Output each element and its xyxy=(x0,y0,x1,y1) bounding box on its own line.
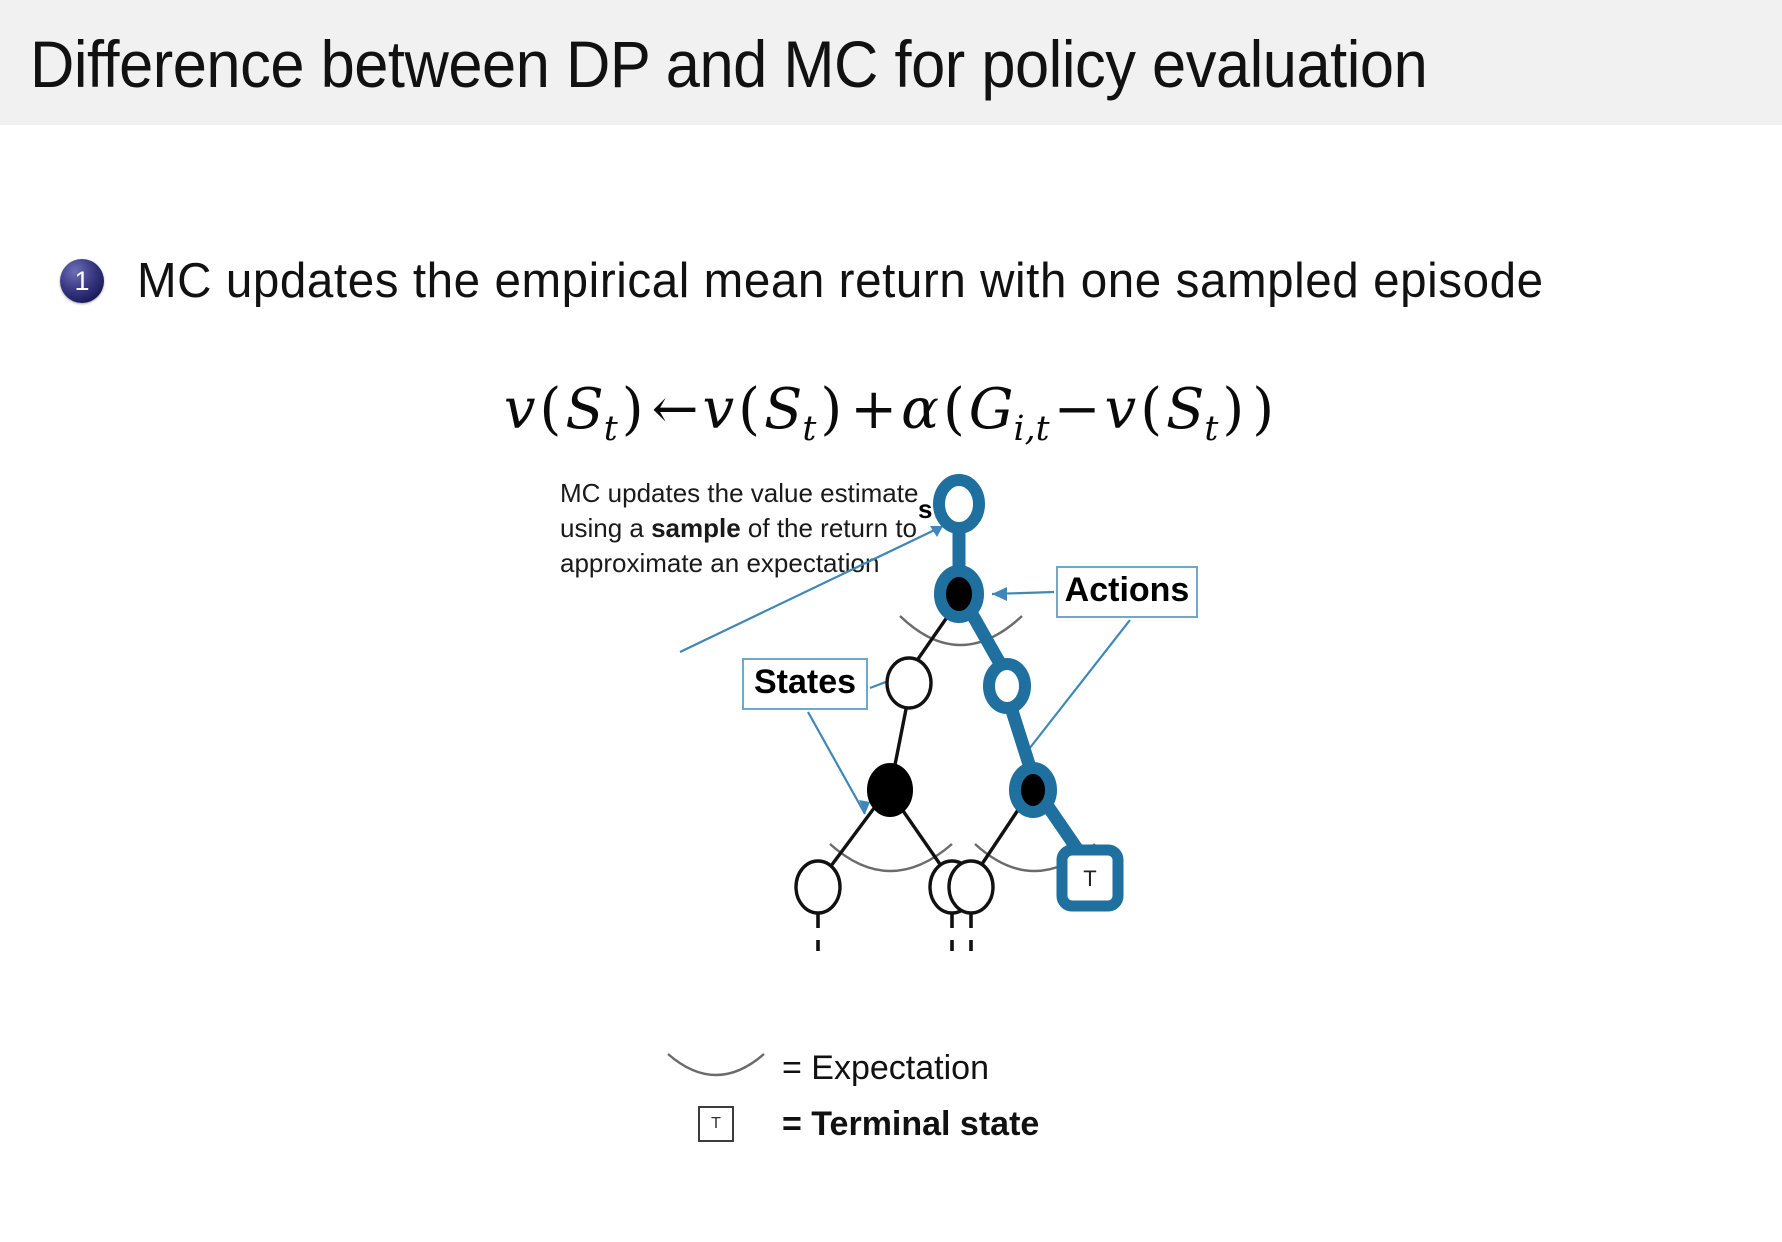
node-action-2 xyxy=(868,764,912,816)
node-action-3 xyxy=(1015,768,1051,812)
formula-alpha: α xyxy=(901,377,939,442)
update-formula: v(St)←v(St)+α(Gi,t−v(St)) xyxy=(0,372,1782,467)
root-state-label: s xyxy=(918,496,932,522)
formula-plus: + xyxy=(846,377,901,442)
backup-diagram: MC updates the value estimate using a sa… xyxy=(560,462,1320,1022)
node-leaf-state-1 xyxy=(796,861,840,913)
legend-terminal-glyph: T xyxy=(698,1106,734,1142)
leader-states-to-leaf xyxy=(808,712,865,814)
expectation-arc-icon xyxy=(660,1048,772,1088)
node-root-state xyxy=(939,480,979,528)
formula-minus: − xyxy=(1050,377,1105,442)
backup-tree-graphic: T xyxy=(560,462,1320,1022)
terminal-box-icon: T xyxy=(660,1106,772,1142)
formula-lhs: v(St) xyxy=(504,377,648,442)
leader-actions-to-lower-action-node xyxy=(1022,620,1130,758)
continuation-stems xyxy=(818,913,971,954)
page-title: Difference between DP and MC for policy … xyxy=(30,20,1427,108)
legend-row-expectation: = Expectation xyxy=(660,1040,1180,1096)
callout-actions[interactable]: Actions xyxy=(1056,566,1198,618)
bullet-number-badge: 1 xyxy=(60,259,104,303)
formula-rhs-v2: v(St) xyxy=(1105,377,1249,442)
diagram-legend: = Expectation T = Terminal state xyxy=(660,1040,1180,1152)
node-action-1 xyxy=(940,571,978,617)
legend-row-terminal: T = Terminal state xyxy=(660,1096,1180,1152)
formula-assign-arrow: ← xyxy=(648,377,703,442)
bullet-item: 1 MC updates the empirical mean return w… xyxy=(60,252,1587,310)
callout-states[interactable]: States xyxy=(742,658,868,710)
terminal-box-letter: T xyxy=(1083,866,1096,891)
formula-return-subscript: i,t xyxy=(1014,409,1050,449)
node-state-left xyxy=(887,658,931,708)
leader-annotation-to-root xyxy=(680,526,943,652)
legend-label-expectation: = Expectation xyxy=(782,1048,989,1088)
bullet-item-label: MC updates the empirical mean return wit… xyxy=(137,252,1544,310)
tree-edges-plain xyxy=(828,600,1030,870)
legend-label-terminal: = Terminal state xyxy=(782,1104,1039,1144)
expectation-arcs xyxy=(830,616,1095,871)
arrowhead-to-action-node xyxy=(992,587,1007,601)
terminal-state-node: T xyxy=(1062,850,1118,906)
formula-rhs-v: v(St) xyxy=(703,377,847,442)
node-leaf-state-4 xyxy=(949,861,993,913)
formula-return-G: G xyxy=(969,377,1014,442)
node-state-right xyxy=(989,664,1025,708)
slide-title-bar: Difference between DP and MC for policy … xyxy=(0,0,1782,125)
